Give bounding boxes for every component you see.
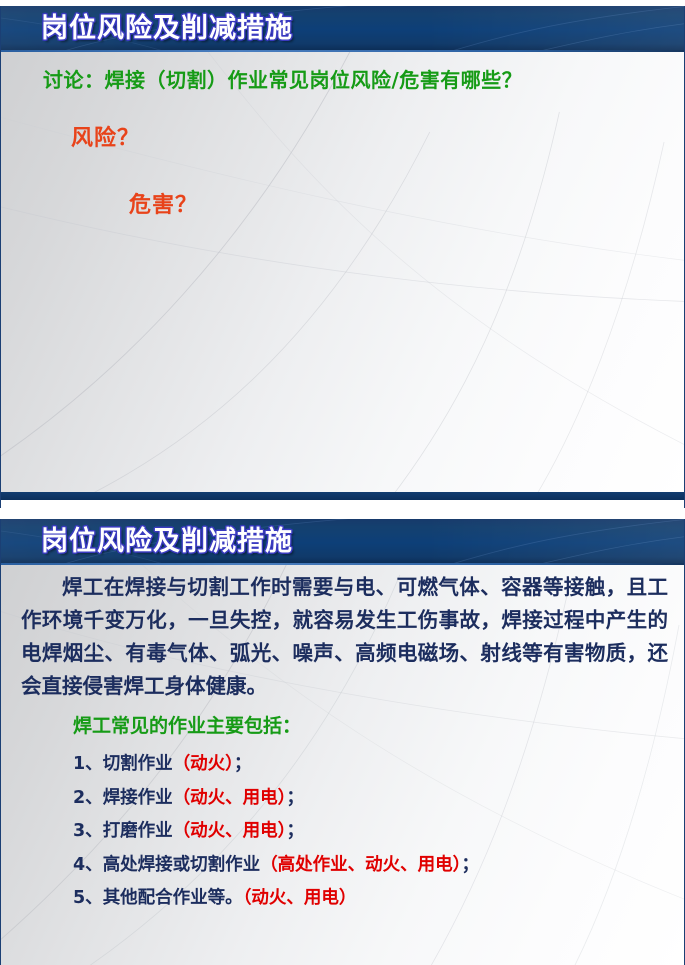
task-body: 切割作业 (103, 754, 173, 774)
task-body: 高处焊接或切割作业 (103, 855, 261, 875)
task-tag: （动火、用电） (243, 888, 357, 908)
slide-2-title: 岗位风险及削减措施 (41, 523, 293, 561)
slide-deck: 岗位风险及削减措施 讨论：焊接（切割）作业常见岗位风险/危害有哪些？ 风险？ 危… (0, 0, 685, 965)
task-body: 其他配合作业等。 (103, 888, 243, 908)
slide-1-footer-bar (1, 492, 684, 500)
task-number: 1、 (73, 754, 103, 774)
slide-1: 岗位风险及削减措施 讨论：焊接（切割）作业常见岗位风险/危害有哪些？ 风险？ 危… (0, 6, 685, 508)
slide-2: 岗位风险及削减措施 焊工在焊接与切割工作时需要与电、可燃气体、容器等接触，且工作… (0, 519, 685, 965)
task-body: 打磨作业 (103, 821, 173, 841)
task-tag: （动火、用电） (173, 821, 287, 841)
task-list-item: 2、焊接作业（动火、用电）； (73, 782, 674, 816)
task-number: 3、 (73, 821, 103, 841)
slide-1-title: 岗位风险及削减措施 (41, 10, 293, 48)
slide-1-title-bar: 岗位风险及削减措施 (1, 6, 684, 52)
slide-1-body: 讨论：焊接（切割）作业常见岗位风险/危害有哪些？ 风险？ 危害？ (1, 52, 684, 500)
slide-2-body: 焊工在焊接与切割工作时需要与电、可燃气体、容器等接触，且工作环境千变万化，一旦失… (1, 565, 684, 965)
task-tail: ； (286, 788, 304, 808)
discussion-item-risk: 风险？ (71, 120, 140, 152)
task-list-item: 3、打磨作业（动火、用电）； (73, 815, 674, 849)
intro-paragraph: 焊工在焊接与切割工作时需要与电、可燃气体、容器等接触，且工作环境千变万化，一旦失… (21, 571, 668, 703)
task-tag: （动火、用电） (173, 788, 287, 808)
slide-1-frame: 岗位风险及削减措施 讨论：焊接（切割）作业常见岗位风险/危害有哪些？ 风险？ 危… (0, 6, 685, 508)
task-number: 4、 (73, 855, 103, 875)
task-list-heading: 焊工常见的作业主要包括： (73, 711, 301, 738)
task-tail: ； (286, 821, 304, 841)
task-body: 焊接作业 (103, 788, 173, 808)
task-list-item: 1、切割作业（动火）； (73, 748, 674, 782)
task-tail: ； (461, 855, 479, 875)
slide-2-frame: 岗位风险及削减措施 焊工在焊接与切割工作时需要与电、可燃气体、容器等接触，且工作… (0, 519, 685, 965)
task-list-item: 4、高处焊接或切割作业（高处作业、动火、用电）； (73, 849, 674, 883)
discussion-question-heading: 讨论：焊接（切割）作业常见岗位风险/危害有哪些？ (43, 64, 522, 93)
task-list-item: 5、其他配合作业等。（动火、用电） (73, 882, 674, 916)
task-tail: ； (234, 754, 252, 774)
task-tag: （高处作业、动火、用电） (260, 855, 461, 875)
slide-2-title-bar: 岗位风险及削减措施 (1, 519, 684, 565)
task-tag: （动火） (173, 754, 234, 774)
task-list: 1、切割作业（动火）； 2、焊接作业（动火、用电）； 3、打磨作业（动火、用电）… (73, 748, 674, 916)
task-number: 2、 (73, 788, 103, 808)
discussion-item-hazard: 危害？ (129, 187, 198, 219)
task-number: 5、 (73, 888, 103, 908)
